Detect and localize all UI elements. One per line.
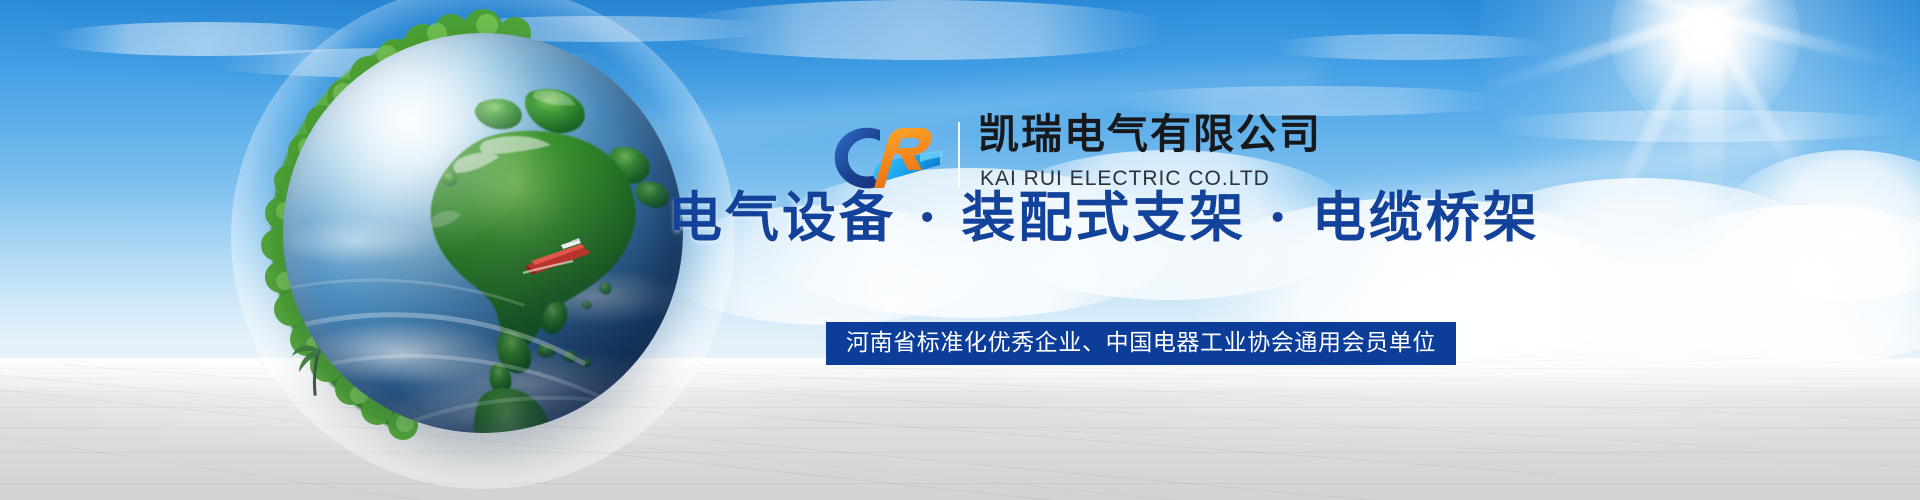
company-name-cn: 凯瑞电气有限公司 xyxy=(978,114,1322,155)
credential-badge: 河南省标准化优秀企业、中国电器工业协会通用会员单位 xyxy=(826,322,1456,365)
cr-monogram-logo[interactable] xyxy=(828,118,946,194)
cargo-ship-icon xyxy=(521,231,595,283)
eco-globe-graphic xyxy=(283,33,683,433)
headline-text: 电气设备 · 装配式支架 · 电缆桥架 xyxy=(668,186,1540,250)
logo-divider xyxy=(958,122,960,188)
credential-badge-text: 河南省标准化优秀企业、中国电器工业协会通用会员单位 xyxy=(846,332,1436,355)
hero-banner: 凯瑞电气有限公司 KAI RUI ELECTRIC CO.LTD 电气设备 · … xyxy=(0,0,1920,500)
